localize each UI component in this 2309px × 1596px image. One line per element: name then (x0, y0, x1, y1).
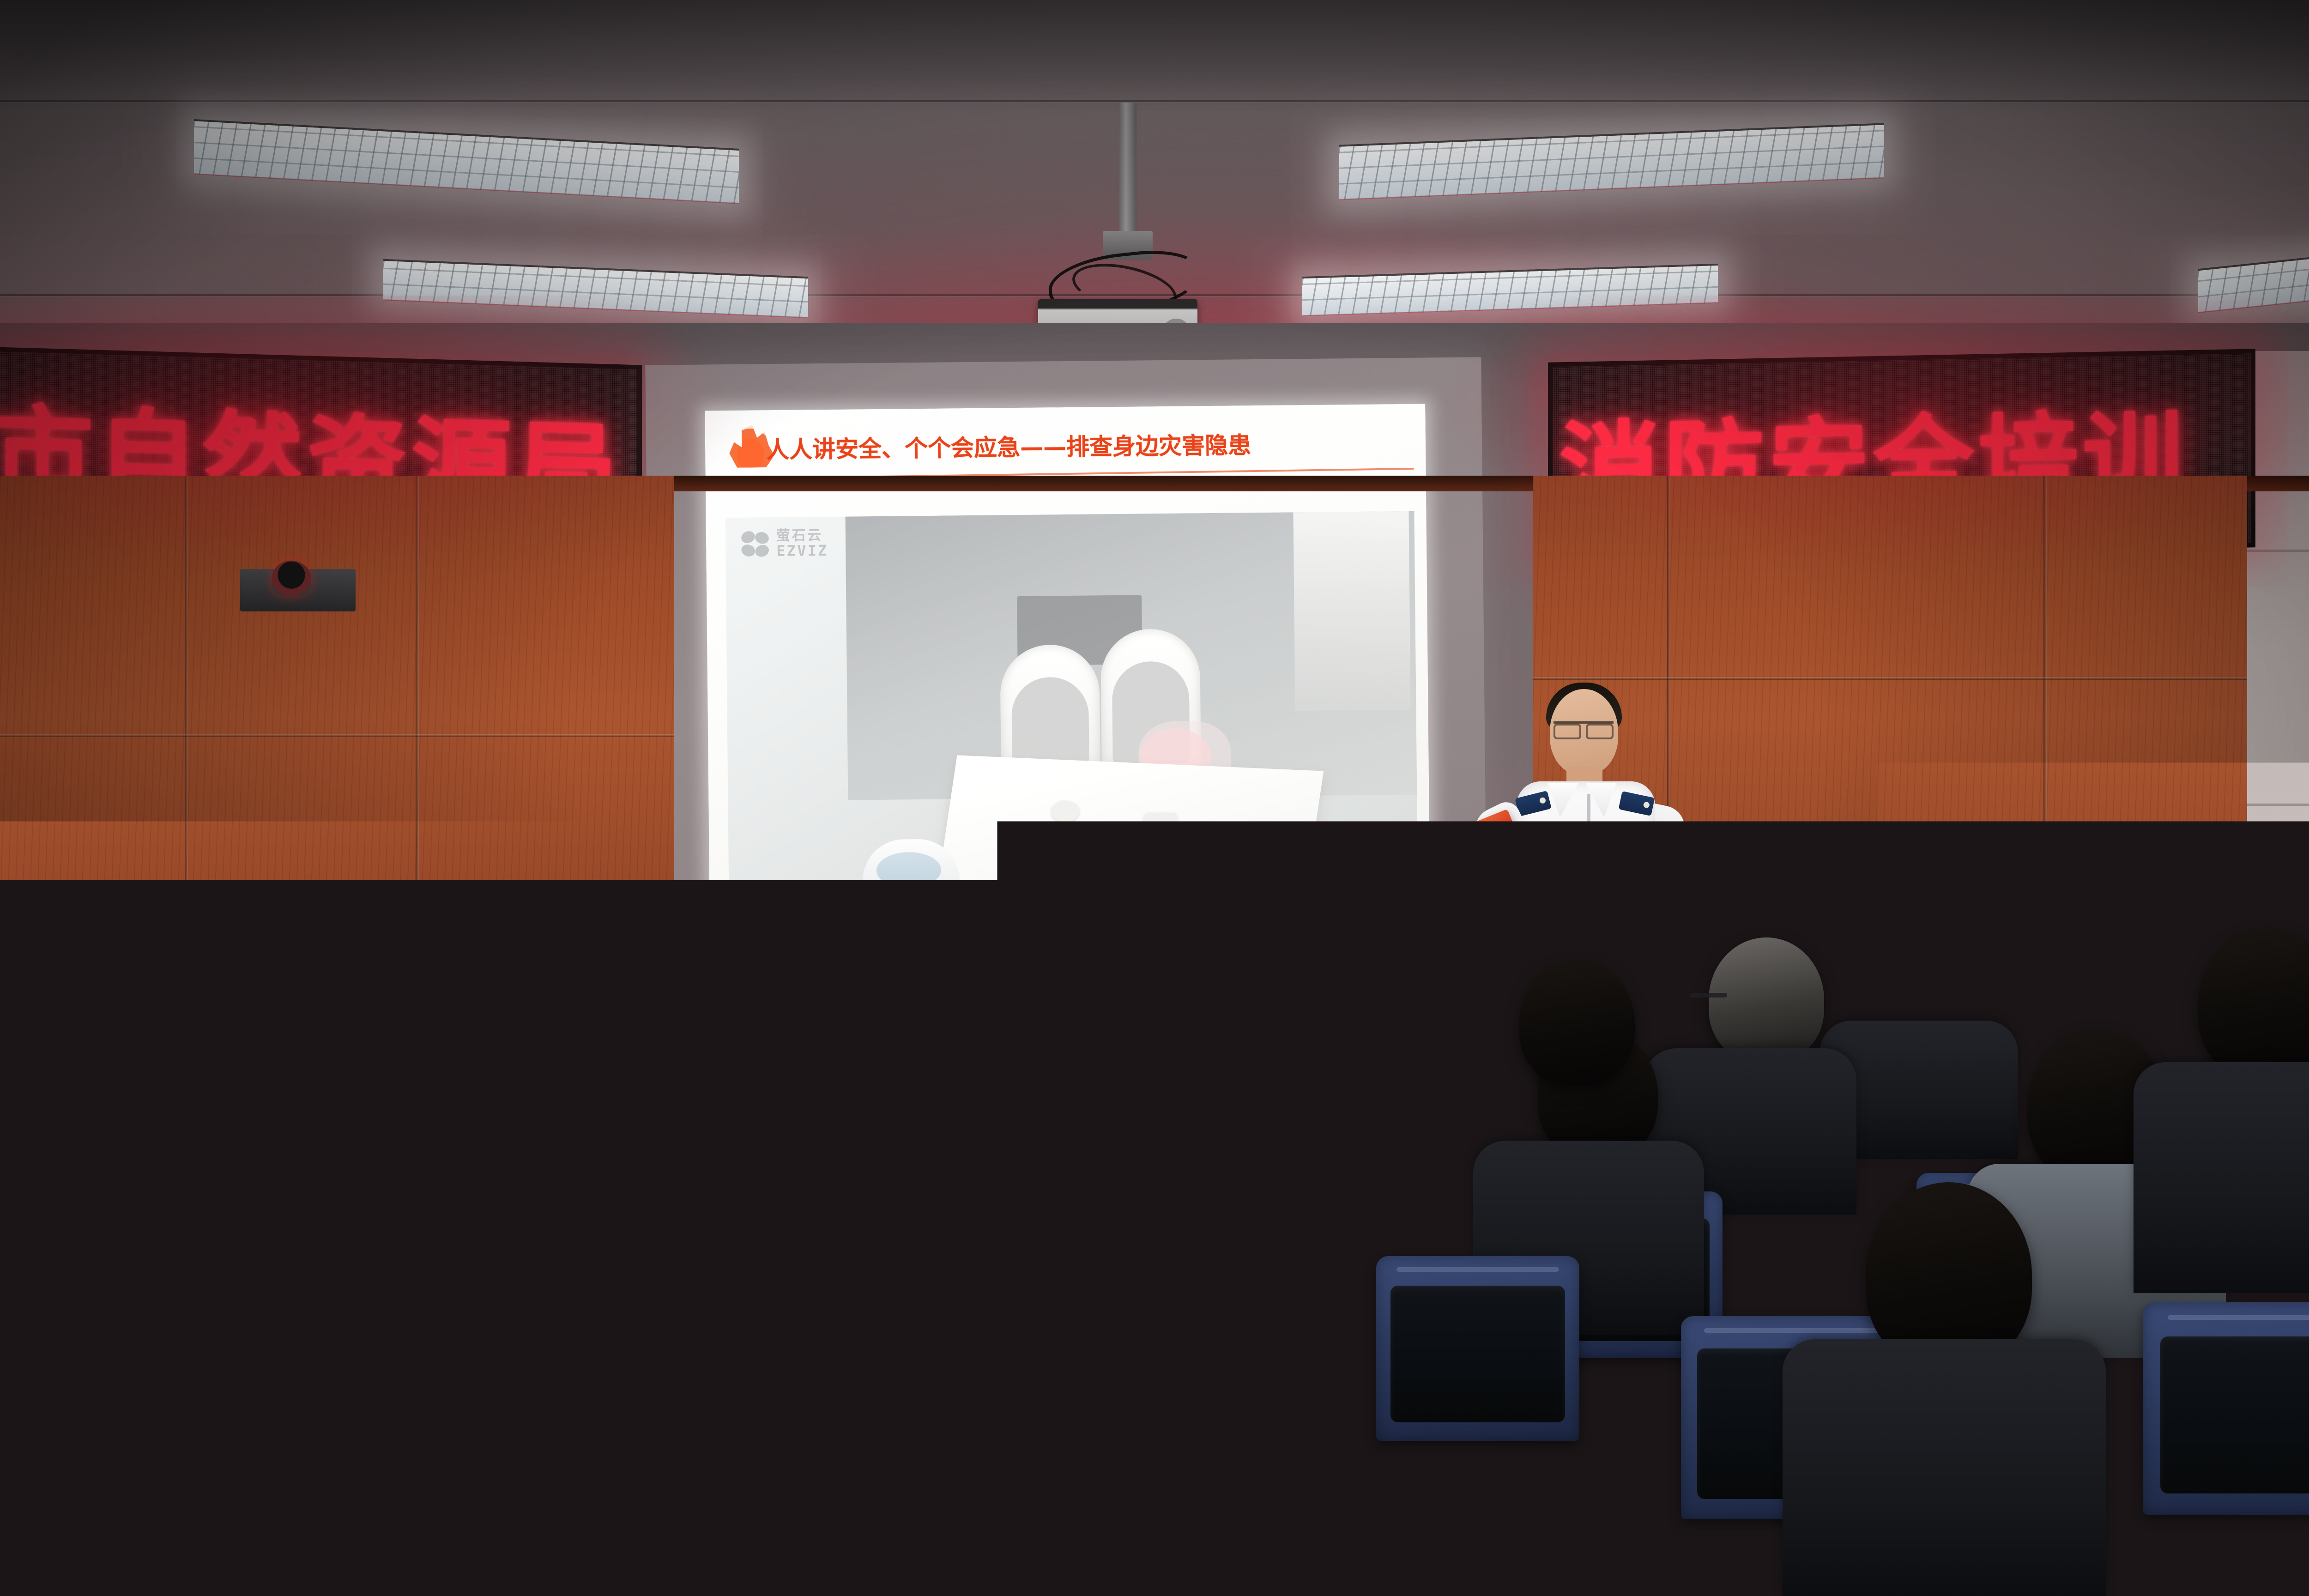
audience-head (1519, 961, 1635, 1085)
audience-torso (0, 1011, 148, 1159)
audience-chair[interactable] (1376, 1256, 1579, 1441)
ezviz-watermark-en: EZVIZ (776, 543, 828, 559)
wall-groove (2244, 550, 2309, 552)
chair-highlight (547, 1052, 672, 1057)
presenter-badge: 2023012 (1590, 845, 1653, 862)
audience-chair[interactable] (2143, 1302, 2309, 1515)
conference-camera-icon (272, 561, 311, 597)
video-tabletop-object (1144, 813, 1177, 837)
shirt-button (1586, 913, 1592, 919)
ceiling-shadow (0, 0, 2309, 111)
chair-highlight (783, 1389, 990, 1394)
glasses-icon (1553, 721, 1614, 734)
seat-placard: 规划 (161, 1103, 197, 1167)
video-window (1293, 511, 1410, 711)
slide-title: 人人讲安全、个个会应急——排查身边灾害隐患 (766, 427, 1251, 465)
shirt-button (1586, 872, 1592, 878)
chair-highlight (2168, 1315, 2309, 1320)
audience-chair[interactable] (688, 1062, 845, 1201)
chair-pad (2160, 1336, 2309, 1493)
ezviz-watermark-cn: 萤石云 (776, 529, 828, 544)
shirt-placket (1587, 794, 1590, 970)
audience-torso (1783, 1339, 2106, 1596)
shirt-button (1586, 831, 1592, 837)
chair-pad (1390, 1286, 1565, 1422)
projector-mount-pole (1119, 103, 1136, 236)
presenter-badge-number: 2023012 (1597, 847, 1646, 859)
ceiling-seam (0, 100, 2309, 102)
ezviz-logo-icon (741, 531, 770, 557)
epaulette-pip-icon (1539, 797, 1547, 804)
audience-torso (314, 1445, 665, 1596)
glasses-icon (1690, 993, 1727, 997)
shirt-button (1586, 953, 1592, 959)
projection-screen: 人人讲安全、个个会应急——排查身边灾害隐患 (645, 357, 1487, 1009)
wood-seam (0, 734, 674, 737)
seat-placard-text: 规划 (164, 1112, 193, 1158)
wall-groove (2244, 804, 2309, 806)
epaulette-pip-icon (1643, 801, 1650, 808)
chair-pad (775, 1411, 998, 1572)
chair-highlight (704, 1070, 829, 1075)
auditorium-scene: 市自然资源局 消防安全培训 人人讲安全、个个会应急——排查身边灾害隐患 (0, 0, 2309, 1596)
glasses-icon (42, 970, 79, 974)
ezviz-watermark: 萤石云 EZVIZ (741, 529, 828, 559)
chair-highlight (1704, 1328, 1889, 1333)
chair-pad (699, 1084, 834, 1187)
audience-head (1709, 937, 1824, 1062)
presenter-left-hand (1646, 988, 1685, 1029)
video-timestamp: 2018-10-30 15:37:14 (1177, 866, 1410, 889)
audience-torso (2134, 1062, 2309, 1293)
hp-logo-icon (1848, 946, 1874, 972)
uniform-pocket (1591, 867, 1642, 912)
audience-head (443, 937, 573, 1076)
chair-highlight (47, 1211, 202, 1216)
audience-chair[interactable] (757, 1376, 1016, 1593)
pocket-flap (1591, 867, 1642, 881)
surveillance-video-frame: 萤石云 EZVIZ 2018-10-30 15:37:14 (725, 511, 1418, 901)
audience-torso (1455, 1071, 1672, 1256)
uniform-chest-pin-icon (1602, 831, 1614, 843)
seat-tag (471, 1404, 522, 1441)
chair-leg (822, 1441, 828, 1596)
pouch-label (1472, 868, 1527, 910)
chair-highlight (1396, 1267, 1559, 1272)
